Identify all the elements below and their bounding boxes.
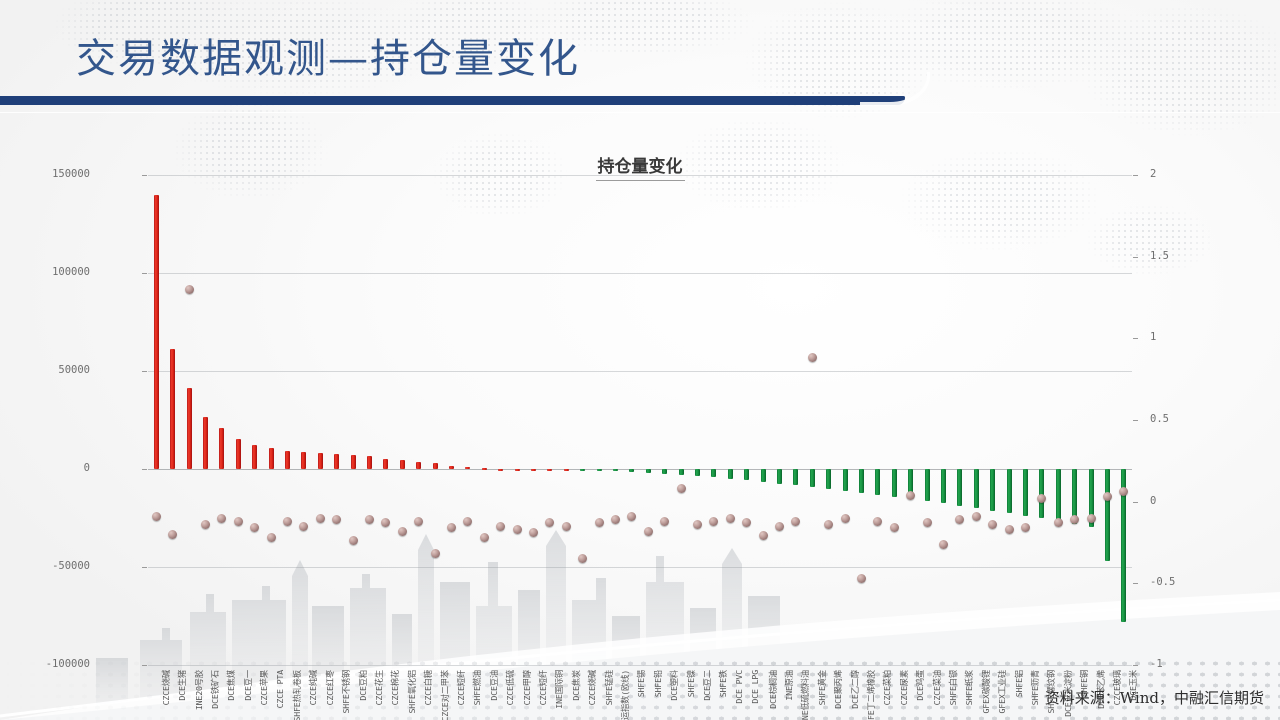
- grid-line: [148, 273, 1132, 274]
- x-axis-category-label: CZCE苹果: [258, 670, 270, 705]
- chart-bar: [957, 469, 962, 506]
- chart-scatter-marker: [332, 515, 341, 524]
- chart-bar: [285, 451, 290, 469]
- chart-scatter-marker: [890, 523, 899, 532]
- x-axis-category-label: SHFE不锈钢: [340, 670, 352, 713]
- title-accent-curve: [860, 72, 930, 106]
- secondary-y-axis-tick-label: -1: [1150, 658, 1163, 670]
- chart-bar: [498, 469, 503, 471]
- x-axis-category-label: DCE豆二: [701, 670, 713, 701]
- chart-bar: [531, 469, 536, 471]
- y-axis-tick-mark: [142, 273, 147, 274]
- chart-scatter-marker: [365, 515, 374, 524]
- chart-bar: [400, 460, 405, 469]
- chart-scatter-marker: [316, 514, 325, 523]
- chart-scatter-marker: [726, 514, 735, 523]
- x-axis-category-label: DCE塑料: [668, 670, 680, 701]
- chart-bar: [416, 462, 421, 469]
- x-axis-category-label: SHFE铝: [1013, 670, 1025, 697]
- secondary-y-axis-tick-label: 1.5: [1150, 250, 1169, 262]
- chart-scatter-marker: [742, 518, 751, 527]
- x-axis-category-label: DCE豆油: [488, 670, 500, 701]
- secondary-y-axis-tick-mark: [1133, 175, 1138, 176]
- chart-scatter-marker: [234, 517, 243, 526]
- secondary-y-axis-tick-mark: [1133, 420, 1138, 421]
- chart-bar: [843, 469, 848, 491]
- x-axis-category-label: CZCE短纤: [537, 670, 549, 705]
- chart-bar: [974, 469, 979, 508]
- chart-bar: [695, 469, 700, 476]
- x-axis-category-label: CZCE PTA: [275, 670, 285, 708]
- chart-scatter-marker: [578, 554, 587, 563]
- x-axis-category-label: CZCE花生: [373, 670, 385, 705]
- secondary-y-axis-tick-mark: [1133, 257, 1138, 258]
- x-axis-category-label: SHFE丁二烯橡胶: [865, 670, 877, 720]
- x-axis-category-label: CZCE烧碱: [160, 670, 172, 705]
- slide-header: 交易数据观测—持仓量变化: [0, 0, 1280, 112]
- x-axis-category-label: CZCE对二甲苯: [439, 670, 451, 720]
- chart-bar: [1023, 469, 1028, 516]
- x-axis-category-label: SHFE燃油: [471, 670, 483, 705]
- slide-root: 交易数据观测—持仓量变化 持仓量变化 150000100000500000-50…: [0, 0, 1280, 720]
- chart-scatter-marker: [381, 518, 390, 527]
- x-axis-category-label: INE低硫燃料油: [799, 670, 811, 720]
- y-axis-tick-label: 100000: [52, 266, 90, 278]
- chart-bar: [629, 469, 634, 472]
- x-axis-category-label: DCE鸡蛋: [914, 670, 926, 701]
- title-divider: [0, 112, 1280, 113]
- x-axis-category-label: SHFE纸浆: [963, 670, 975, 705]
- y-axis-tick-mark: [142, 175, 147, 176]
- chart-bar: [383, 459, 388, 469]
- chart-bar: [859, 469, 864, 493]
- source-note: 资料来源：Wind，中融汇信期货: [1045, 687, 1264, 708]
- x-axis-category-label: SHFE白银: [947, 670, 959, 705]
- chart-scatter-marker: [955, 515, 964, 524]
- chart-bar: [646, 469, 651, 473]
- chart-scatter-marker: [1021, 523, 1030, 532]
- chart-scatter-marker: [972, 512, 981, 521]
- chart-bar: [662, 469, 667, 474]
- chart-scatter-marker: [1070, 515, 1079, 524]
- x-axis-category-label: CZCE纯碱: [307, 670, 319, 705]
- chart-scatter-marker: [1037, 494, 1046, 503]
- title-accent-bar: [0, 96, 905, 105]
- x-axis-category-label: CZCE红枣: [324, 670, 336, 705]
- chart-scatter-marker: [414, 517, 423, 526]
- secondary-y-axis-tick-mark: [1133, 338, 1138, 339]
- chart-scatter-marker: [644, 527, 653, 536]
- x-axis-category-label: CZCE甲醇: [521, 670, 533, 705]
- secondary-y-axis-tick-mark: [1133, 665, 1138, 666]
- chart-bar: [1056, 469, 1061, 521]
- chart-bar: [777, 469, 782, 484]
- secondary-y-axis-tick-mark: [1133, 502, 1138, 503]
- chart-scatter-marker: [1087, 514, 1096, 523]
- x-axis-category-label: INE国际铜: [553, 670, 565, 709]
- chart-scatter-marker: [873, 517, 882, 526]
- chart-bar: [482, 468, 487, 470]
- chart-scatter-marker: [824, 520, 833, 529]
- chart-bar: [875, 469, 880, 495]
- chart-scatter-marker: [923, 518, 932, 527]
- chart-scatter-marker: [185, 285, 194, 294]
- chart-bar: [547, 469, 552, 471]
- chart-scatter-marker: [250, 523, 259, 532]
- x-axis-category-label: DCE乙二醇: [849, 670, 861, 709]
- y-axis-tick-mark: [142, 665, 147, 666]
- chart-title: 持仓量变化: [0, 152, 1280, 177]
- chart-scatter-marker: [496, 522, 505, 531]
- chart-bar: [679, 469, 684, 475]
- x-axis-category-label: CZCE尿素: [898, 670, 910, 705]
- chart-scatter-marker: [431, 549, 440, 558]
- x-axis-category-label: DCE焦炭: [570, 670, 582, 701]
- x-axis-category-label: CZCE烧碱: [586, 670, 598, 705]
- chart-scatter-marker: [1054, 518, 1063, 527]
- chart-bar: [826, 469, 831, 489]
- chart-scatter-marker: [595, 518, 604, 527]
- chart-bar: [367, 456, 372, 469]
- x-axis-category-label: SHFE锡: [635, 670, 647, 697]
- chart-bar: [236, 439, 241, 469]
- chart-scatter-marker: [775, 522, 784, 531]
- chart-scatter-marker: [529, 528, 538, 537]
- x-axis-category-label: SHFE氧化铝: [406, 670, 418, 713]
- x-axis-category-label: SHFE镍: [685, 670, 697, 697]
- y-axis-tick-label: -100000: [46, 658, 90, 670]
- chart-bar: [219, 428, 224, 469]
- y-axis-tick-mark: [142, 567, 147, 568]
- secondary-y-axis-tick-label: 0.5: [1150, 413, 1169, 425]
- y-axis-tick-label: 50000: [58, 364, 90, 376]
- chart-plot-area: 150000100000500000-50000-10000021.510.50…: [148, 175, 1132, 665]
- x-axis-category-label: SHFE黄金: [816, 670, 828, 705]
- chart-scatter-marker: [201, 520, 210, 529]
- chart-scatter-marker: [513, 525, 522, 534]
- chart-bar: [728, 469, 733, 479]
- chart-bar: [613, 469, 618, 471]
- x-axis-category-label: CZCE菜粕: [881, 670, 893, 705]
- chart-bar: [1105, 469, 1110, 561]
- x-axis-category-label: SHFE锰硅: [603, 670, 615, 705]
- chart-bar: [318, 453, 323, 469]
- chart-scatter-marker: [988, 520, 997, 529]
- x-axis-category-label: GFEX碳酸锂: [980, 670, 992, 713]
- chart-scatter-marker: [709, 517, 718, 526]
- chart-scatter-marker: [677, 484, 686, 493]
- chart-bar: [334, 454, 339, 469]
- chart-bar: [465, 467, 470, 469]
- chart-scatter-marker: [1005, 525, 1014, 534]
- y-axis-tick-label: -50000: [52, 560, 90, 572]
- chart-bar: [761, 469, 766, 482]
- title-rule-group: [0, 96, 960, 112]
- chart-bar: [892, 469, 897, 497]
- secondary-y-axis-tick-mark: [1133, 583, 1138, 584]
- x-axis-category-label: DCE棕榈油: [767, 670, 779, 709]
- chart-bar: [564, 469, 569, 471]
- x-axis-category-label: INE原油: [783, 670, 795, 701]
- x-axis-category-label: DCE铁矿石: [209, 670, 221, 709]
- x-axis-category-label: CZCE菜油: [931, 670, 943, 705]
- x-axis-category-label: INE20号胶: [193, 670, 205, 710]
- secondary-y-axis-tick-label: 2: [1150, 168, 1156, 180]
- chart-bar: [170, 349, 175, 469]
- chart-scatter-marker: [545, 518, 554, 527]
- chart-bar: [187, 388, 192, 469]
- chart-scatter-marker: [660, 517, 669, 526]
- x-axis-category-label: DCE聚丙烯: [832, 670, 844, 709]
- grid-line: [148, 371, 1132, 372]
- x-axis-category-label: CZCE短纤: [455, 670, 467, 705]
- chart-bar: [433, 463, 438, 469]
- chart-bar: [301, 452, 306, 469]
- axis-zero-line: [148, 469, 1132, 470]
- secondary-y-axis-tick-label: 0: [1150, 495, 1156, 507]
- chart-bar: [793, 469, 798, 485]
- x-axis-category-label: DCE LPG: [750, 670, 760, 704]
- chart-bar: [925, 469, 930, 501]
- chart-scatter-marker: [217, 514, 226, 523]
- chart-scatter-marker: [693, 520, 702, 529]
- x-axis-category-label: CZCE棉花: [389, 670, 401, 705]
- grid-line: [148, 567, 1132, 568]
- x-axis-category-label: SHFE铁: [717, 670, 729, 697]
- chart-bar: [580, 469, 585, 471]
- chart-bar: [597, 469, 602, 471]
- chart-scatter-marker: [611, 515, 620, 524]
- x-axis-category-label: GFEX工业硅: [996, 670, 1008, 713]
- chart-bar: [351, 455, 356, 469]
- chart-container: 持仓量变化 150000100000500000-50000-10000021.…: [0, 120, 1280, 680]
- chart-scatter-marker: [841, 514, 850, 523]
- chart-scatter-marker: [906, 491, 915, 500]
- chart-bar: [269, 448, 274, 469]
- chart-bar: [990, 469, 995, 511]
- chart-bar: [1007, 469, 1012, 513]
- chart-scatter-marker: [349, 536, 358, 545]
- grid-line: [148, 665, 1132, 666]
- chart-scatter-marker: [480, 533, 489, 542]
- chart-bar: [515, 469, 520, 471]
- chart-scatter-marker: [398, 527, 407, 536]
- page-title: 交易数据观测—持仓量变化: [76, 26, 580, 84]
- chart-scatter-marker: [627, 512, 636, 521]
- chart-scatter-marker: [1103, 492, 1112, 501]
- chart-bar: [941, 469, 946, 503]
- chart-bar: [252, 445, 257, 469]
- chart-bar: [744, 469, 749, 480]
- x-axis-category-label: SHFE沥青: [1029, 670, 1041, 705]
- grid-line: [148, 175, 1132, 176]
- x-axis-category-label: DCE豆粕: [357, 670, 369, 701]
- chart-bar: [810, 469, 815, 487]
- chart-scatter-marker: [791, 517, 800, 526]
- x-axis-category-label: CZCE白糖: [422, 670, 434, 705]
- y-axis-tick-mark: [142, 469, 147, 470]
- y-axis-tick-mark: [142, 371, 147, 372]
- chart-bar: [154, 195, 159, 469]
- x-axis-category-label: SHFE热轧卷板: [291, 670, 303, 720]
- chart-scatter-marker: [283, 517, 292, 526]
- secondary-y-axis-tick-label: -0.5: [1150, 576, 1175, 588]
- chart-scatter-marker: [1119, 487, 1128, 496]
- chart-scatter-marker: [267, 533, 276, 542]
- y-axis-tick-label: 150000: [52, 168, 90, 180]
- chart-bar: [203, 417, 208, 469]
- y-axis-tick-label: 0: [84, 462, 90, 474]
- chart-bar: [449, 466, 454, 469]
- x-axis-category-label: SHFE铅: [652, 670, 664, 697]
- x-axis-category-label: DCE焦煤: [225, 670, 237, 701]
- chart-scatter-marker: [152, 512, 161, 521]
- secondary-y-axis-tick-label: 1: [1150, 331, 1156, 343]
- chart-scatter-marker: [562, 522, 571, 531]
- chart-scatter-marker: [939, 540, 948, 549]
- chart-scatter-marker: [857, 574, 866, 583]
- chart-scatter-marker: [168, 530, 177, 539]
- x-axis-category-label: DCE生猪: [176, 670, 188, 701]
- x-axis-category-label: DCE PVC: [734, 670, 744, 704]
- chart-scatter-marker: [759, 531, 768, 540]
- chart-scatter-marker: [463, 517, 472, 526]
- chart-scatter-marker: [808, 353, 817, 362]
- chart-scatter-marker: [299, 522, 308, 531]
- x-axis-category-label: CZCE低硫: [504, 670, 516, 705]
- x-axis-category-label: DCE豆一: [242, 670, 254, 701]
- chart-bar: [711, 469, 716, 477]
- chart-scatter-marker: [447, 523, 456, 532]
- x-axis-category-label: INE集运指数(欧线): [619, 670, 631, 720]
